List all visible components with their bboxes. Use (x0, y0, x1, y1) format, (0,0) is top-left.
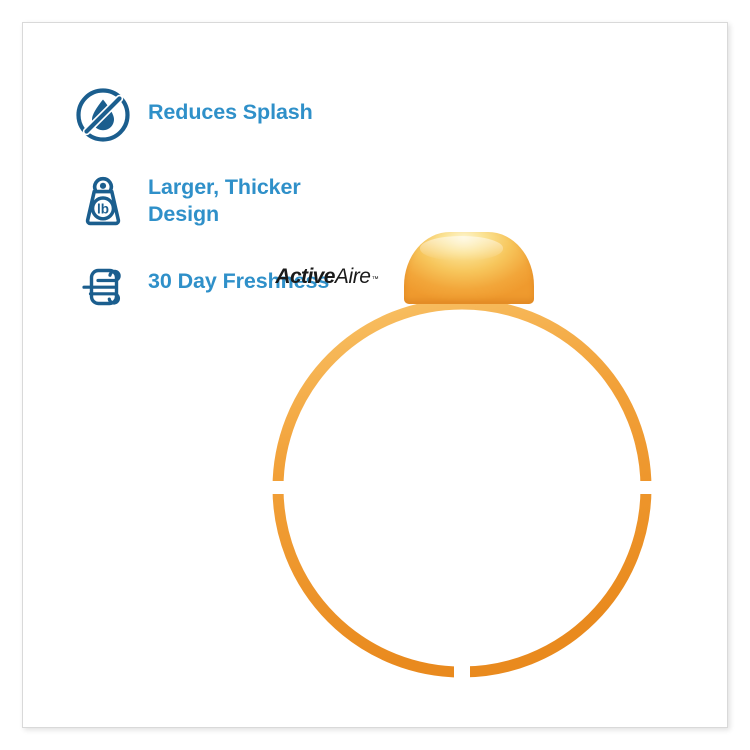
brand-logo: ActiveAire™ (262, 266, 392, 287)
svg-text:lb: lb (97, 202, 109, 217)
feature-item-larger-thicker-design: lb Larger, Thicker Design (72, 170, 372, 232)
urinal-screen-mesh (268, 298, 656, 678)
air-freshness-wind-icon (72, 256, 134, 318)
weight-lb-icon: lb (72, 170, 134, 232)
product-image-card: Reduces Splash lb Larger, Thicker Design (0, 0, 750, 750)
screen-lattice (268, 298, 656, 678)
brand-name-active: Active (275, 265, 334, 288)
feature-label: Reduces Splash (148, 84, 313, 126)
product-photo-urinal-screen: ActiveAire™ (262, 232, 662, 684)
cap-gloss-highlight (420, 236, 503, 260)
feature-item-reduces-splash: Reduces Splash (72, 84, 372, 146)
product-cap-dome (404, 232, 534, 304)
brand-name-aire: Aire (335, 265, 371, 288)
no-splash-droplet-icon (72, 84, 134, 146)
brand-trademark-icon: ™ (372, 276, 379, 283)
feature-label: Larger, Thicker Design (148, 170, 301, 229)
